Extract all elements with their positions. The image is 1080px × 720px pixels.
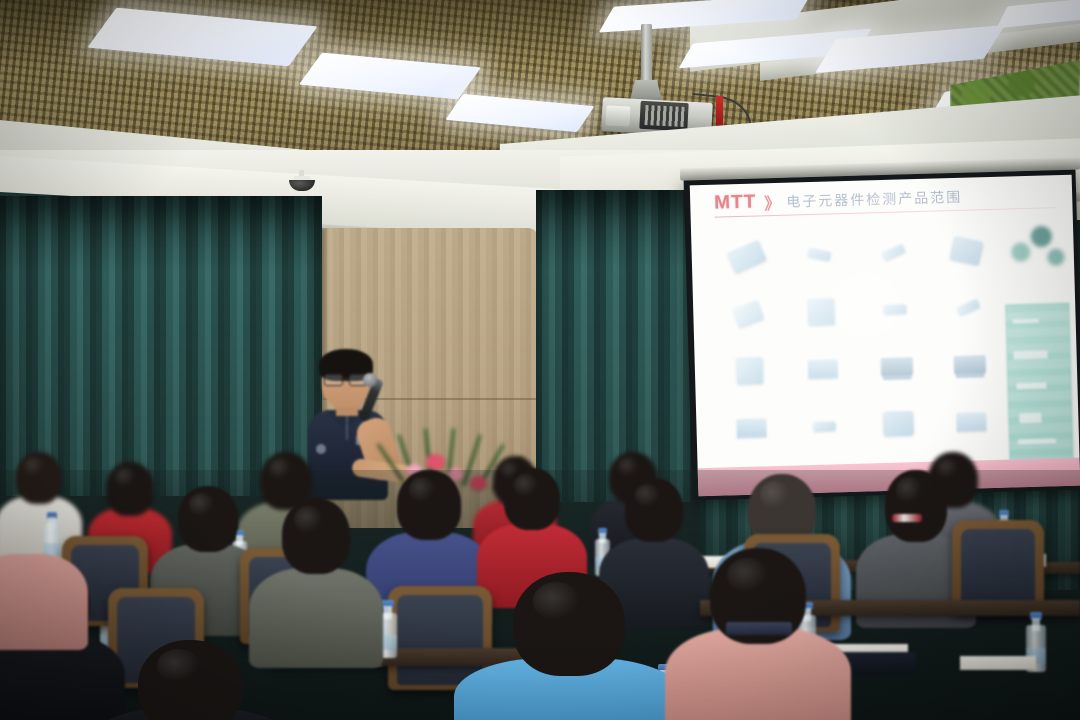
projector-vent-grille — [645, 105, 686, 127]
projector-lens-block — [605, 105, 630, 126]
curtain-left — [0, 196, 322, 496]
attendee-black-shirt-front — [110, 640, 270, 720]
attendee-torso — [249, 568, 383, 668]
attendee-head — [504, 468, 560, 530]
hair-tie — [892, 514, 922, 522]
attendee-torso — [0, 554, 88, 650]
slide-component-item — [736, 358, 763, 385]
slide-component-item — [880, 357, 912, 376]
attendee-grey-blouse — [866, 470, 966, 620]
slide-component-item — [727, 240, 767, 274]
presenter-placket — [346, 414, 348, 440]
slide-component-item — [950, 235, 984, 265]
attendee-pink-shirt-front — [688, 548, 828, 720]
attendee-pink-shirt-left — [0, 490, 76, 640]
slide-component-item — [954, 355, 986, 374]
attendee-head — [397, 470, 461, 540]
slide-component-item — [814, 421, 836, 431]
attendee-head — [138, 640, 242, 720]
projector-mount-pole — [641, 24, 652, 86]
slide-title: 电子元器件检测产品范围 — [786, 187, 962, 212]
attendee-head — [106, 462, 154, 516]
attendee-head — [625, 478, 683, 542]
mtt-logo: MTT — [714, 192, 757, 215]
slide-component-item — [882, 244, 906, 261]
slide-component-grid — [709, 221, 1009, 458]
security-camera-dome — [289, 180, 315, 191]
attendee-head — [282, 498, 350, 574]
curtain-shading — [0, 196, 322, 496]
attendee-head — [178, 486, 238, 552]
projection-screen-frame: MTT 》 电子元器件检测产品范围 — [684, 170, 1080, 501]
security-camera — [289, 176, 315, 191]
slide-component-item — [957, 299, 981, 316]
slide-component-item — [956, 413, 986, 432]
slide-pcb-image — [1005, 303, 1073, 467]
shirt-collar — [726, 622, 792, 635]
attendee-head — [513, 572, 625, 676]
slide-component-item — [808, 248, 831, 262]
slide-component-item — [736, 419, 766, 438]
attendee-head — [885, 470, 947, 542]
flower-bloom — [426, 454, 445, 470]
slide-pcb-detail-top — [999, 215, 1071, 277]
eyeglasses — [324, 374, 368, 384]
slide-component-item — [883, 412, 914, 437]
slide-component-item — [884, 305, 906, 315]
projection-screen-surface: MTT 》 电子元器件检测产品范围 — [690, 175, 1080, 497]
attendee-lightblue-tshirt — [484, 572, 654, 720]
slide-component-item — [732, 300, 763, 328]
seminar-room-photo: MTT 》 电子元器件检测产品范围 — [0, 0, 1080, 720]
slide-component-item — [808, 359, 838, 378]
notepad — [960, 656, 1036, 670]
attendee-olive-shirt-front — [264, 498, 368, 658]
chevron-icon: 》 — [764, 190, 779, 214]
slide-component-item — [808, 298, 835, 325]
